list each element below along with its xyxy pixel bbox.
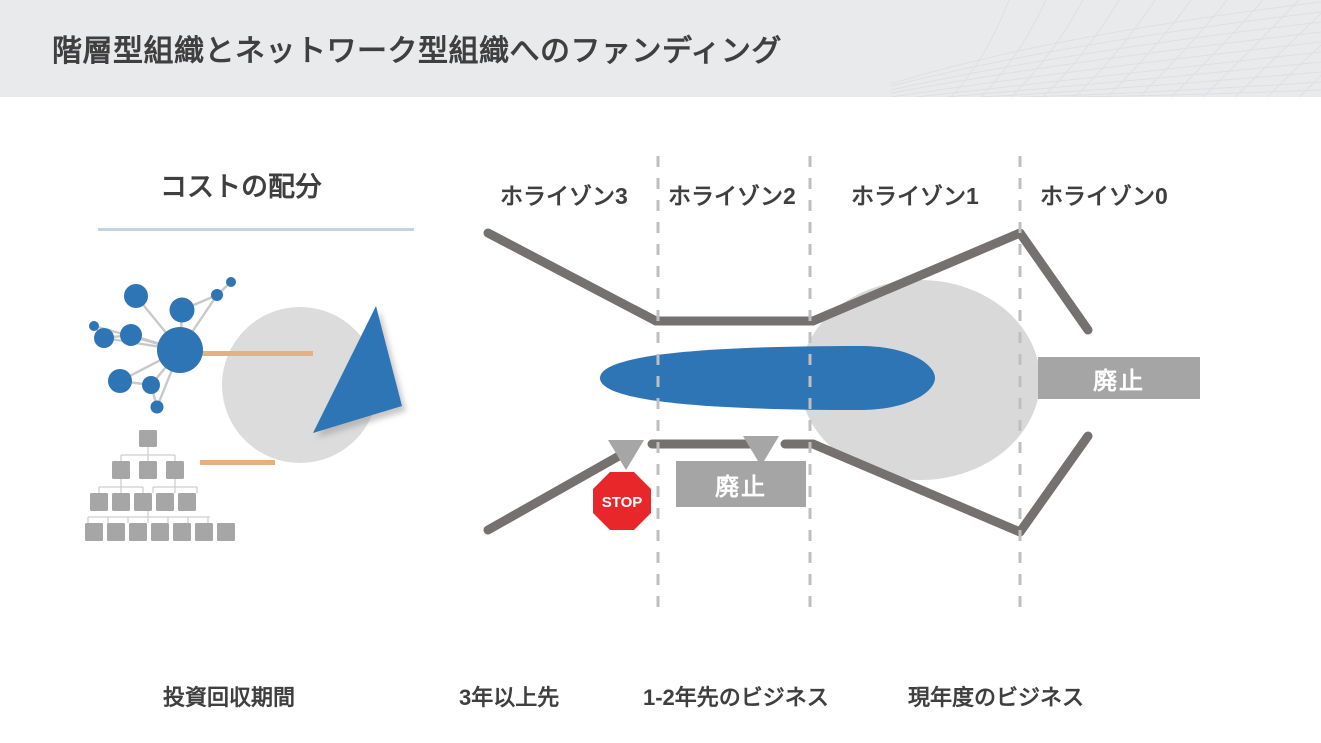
bottom-label-payback-period: 投資回収期間 <box>163 680 295 712</box>
slide-header: 階層型組織とネットワーク型組織へのファンディング <box>0 0 1321 97</box>
network-organization-icon <box>89 277 236 414</box>
funding-stream-ellipse <box>600 346 935 410</box>
header-wave-decoration <box>891 0 1321 97</box>
page-title: 階層型組織とネットワーク型組織へのファンディング <box>52 26 782 70</box>
stop-sign-label: STOP <box>602 494 643 511</box>
stop-sign-icon: STOP <box>593 472 651 530</box>
cost-allocation-title: コストの配分 <box>160 165 322 204</box>
title-underline <box>98 228 414 231</box>
hierarchy-organization-icon <box>85 430 235 541</box>
connector-line-hierarchy <box>200 460 275 465</box>
cost-allocation-illustration <box>85 265 425 555</box>
bottom-label-1-2-years: 1-2年先のビジネス <box>643 680 829 712</box>
bottom-label-3-years-plus: 3年以上先 <box>459 680 559 712</box>
bottom-label-current-year: 現年度のビジネス <box>908 680 1084 712</box>
status-badge-haishi-right: 廃止 <box>1038 357 1200 399</box>
status-badge-haishi-bottom: 廃止 <box>676 461 806 507</box>
